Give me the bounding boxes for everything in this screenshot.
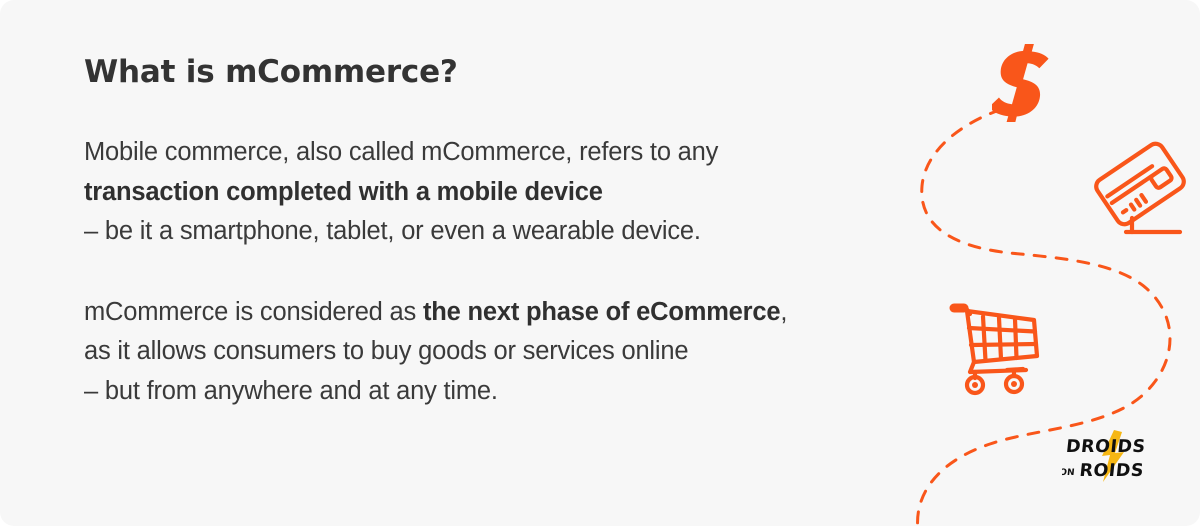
paragraph-definition: Mobile commerce, also called mCommerce, … xyxy=(84,133,924,252)
shopping-cart-icon xyxy=(948,300,1056,396)
paragraph-next-phase: mCommerce is considered as the next phas… xyxy=(84,293,924,412)
page-title: What is mCommerce? xyxy=(84,54,924,91)
logo-line2-small: ON xyxy=(1062,468,1075,478)
logo-mark: DROIDS ON ROIDS xyxy=(1062,428,1166,484)
paragraph-line: – but from anywhere and at any time. xyxy=(84,377,498,405)
paragraph-line-emphasis: transaction completed with a mobile devi… xyxy=(84,178,603,206)
paragraph-line: – be it a smartphone, tablet, or even a … xyxy=(84,217,701,245)
paragraph-line: as it allows consumers to buy goods or s… xyxy=(84,337,688,365)
droids-on-roids-logo: DROIDS ON ROIDS xyxy=(1062,428,1166,484)
paragraph-line: Mobile commerce, also called mCommerce, … xyxy=(84,138,718,166)
paragraph-line: mCommerce is considered as xyxy=(84,298,423,326)
paragraph-line-punctuation: , xyxy=(780,298,787,326)
paragraph-line-emphasis: the next phase of eCommerce xyxy=(423,298,780,326)
credit-card-icon xyxy=(1088,140,1192,240)
text-content: What is mCommerce? Mobile commerce, also… xyxy=(84,54,924,411)
info-card: What is mCommerce? Mobile commerce, also… xyxy=(0,0,1200,526)
logo-line2: ROIDS xyxy=(1078,461,1145,481)
dollar-sign-icon xyxy=(992,44,1058,122)
logo-line1: DROIDS xyxy=(1065,437,1147,457)
